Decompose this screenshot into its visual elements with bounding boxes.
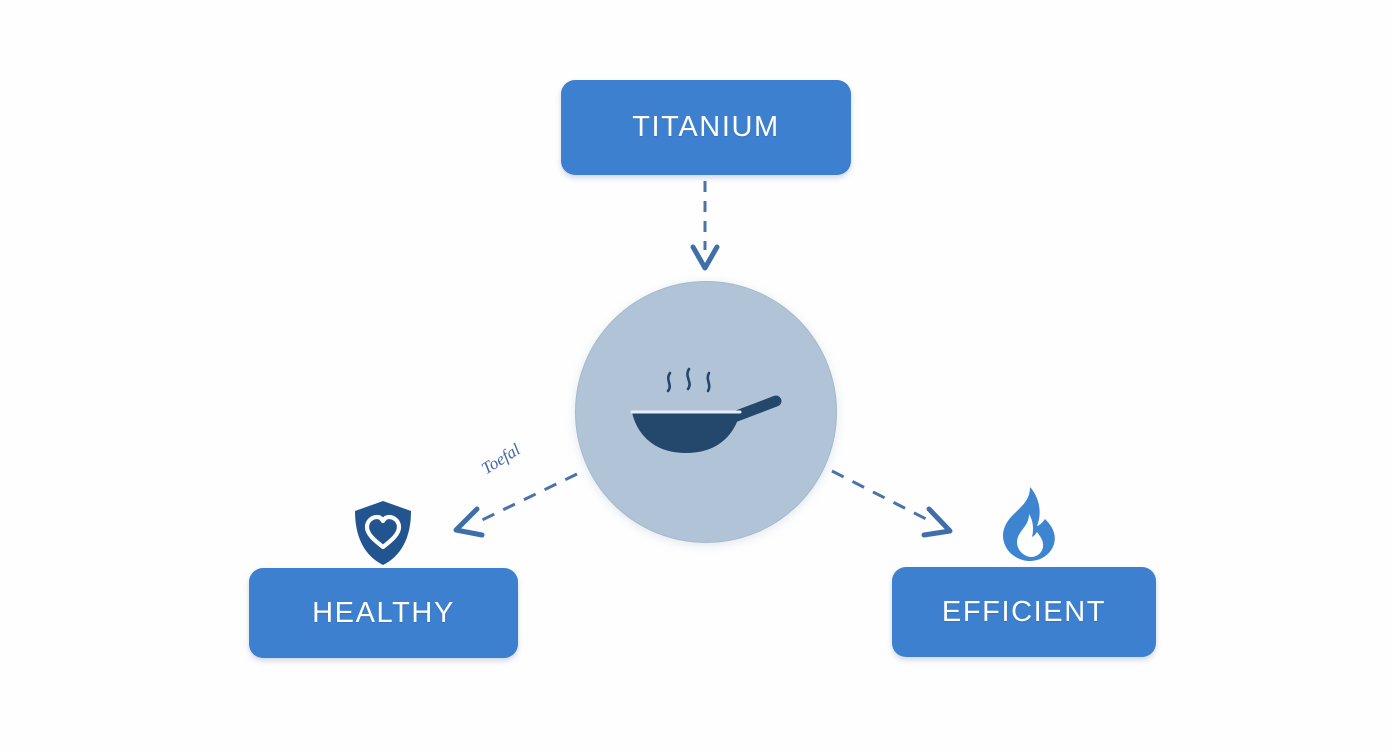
frying-pan-icon [616, 357, 796, 467]
edge-hub-to-healthy [456, 474, 577, 535]
node-efficient-label: EFFICIENT [942, 596, 1106, 629]
node-healthy-label: HEALTHY [312, 597, 455, 630]
node-titanium-label: TITANIUM [632, 111, 780, 144]
shield-heart-icon [348, 498, 418, 568]
diagram-canvas: Toefal TITANIUM [0, 0, 1392, 752]
edge-titanium-to-hub [693, 181, 717, 268]
flame-icon [997, 486, 1059, 562]
node-healthy[interactable]: HEALTHY [249, 568, 518, 658]
node-titanium[interactable]: TITANIUM [561, 80, 851, 175]
edge-hub-to-efficient [832, 471, 950, 535]
node-efficient[interactable]: EFFICIENT [892, 567, 1156, 657]
edge-label-toefal: Toefal [478, 440, 524, 479]
node-cookware-hub[interactable] [575, 281, 837, 543]
